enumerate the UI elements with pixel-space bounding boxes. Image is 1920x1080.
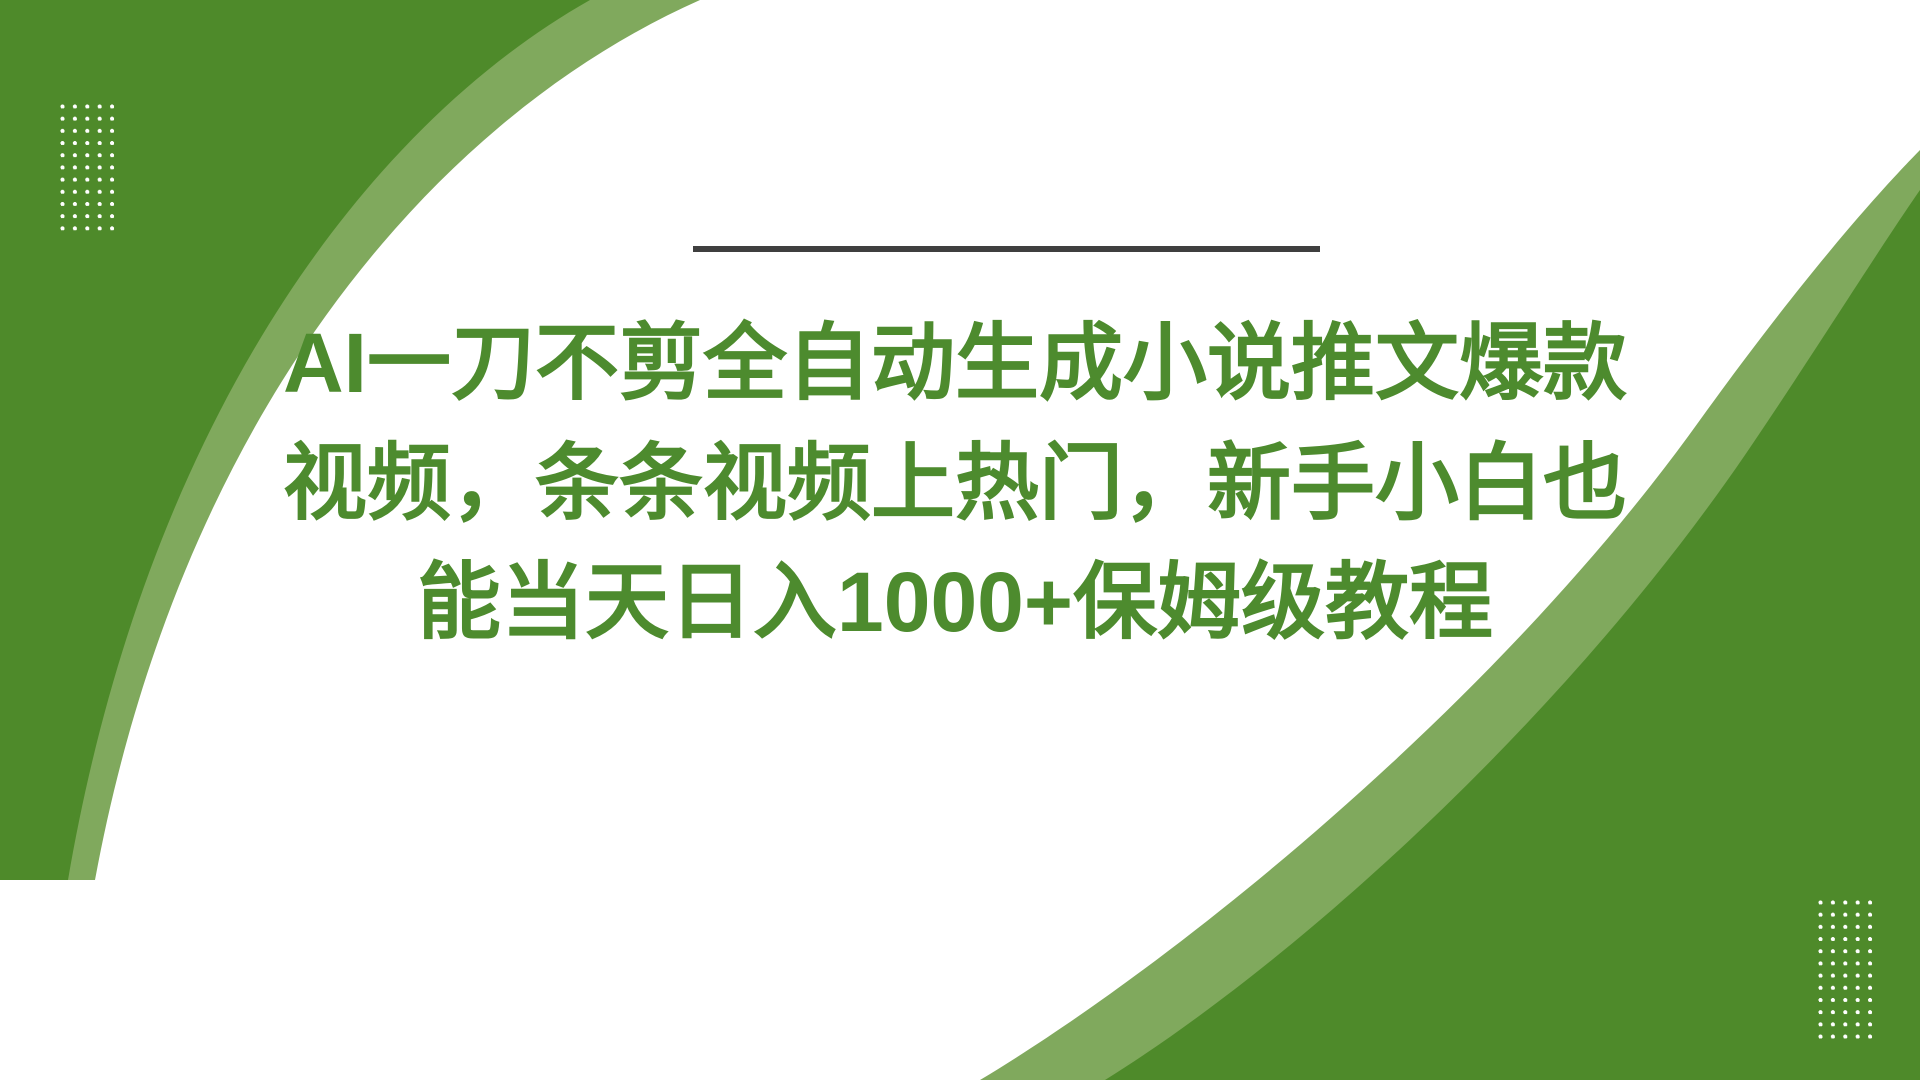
page-title: AI一刀不剪全自动生成小说推文爆款视频，条条视频上热门，新手小白也能当天日入10… <box>255 304 1655 662</box>
poster-canvas: AI一刀不剪全自动生成小说推文爆款视频，条条视频上热门，新手小白也能当天日入10… <box>0 0 1920 1080</box>
poster-content: AI一刀不剪全自动生成小说推文爆款视频，条条视频上热门，新手小白也能当天日入10… <box>0 0 1920 1080</box>
title-divider-rule <box>693 246 1320 252</box>
